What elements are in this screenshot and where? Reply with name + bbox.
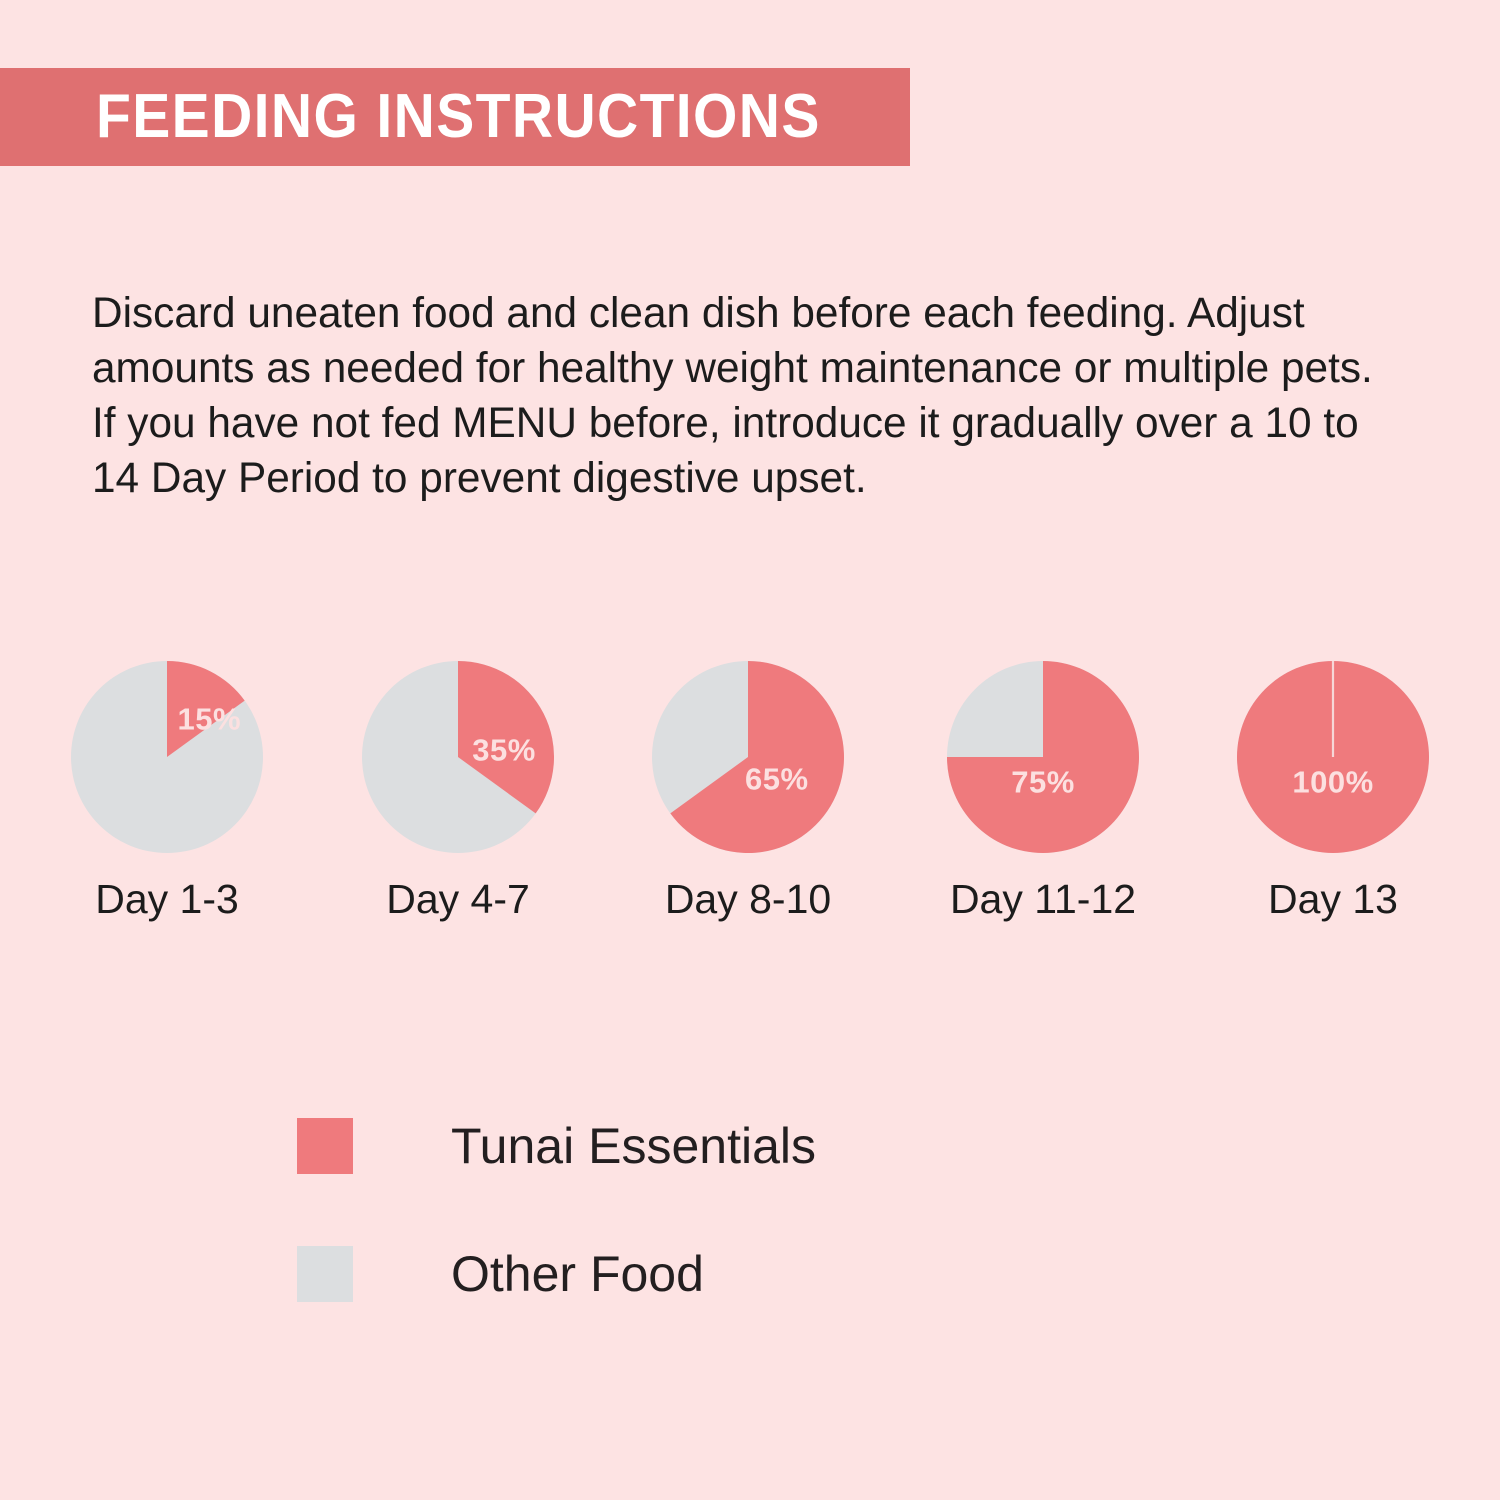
- pie-chart-2: 35%Day 4-7: [362, 661, 554, 920]
- legend-item-tunai-essentials: Tunai Essentials: [297, 1082, 816, 1210]
- pie-graphic-3: 65%: [652, 661, 844, 853]
- legend-label-other-food: Other Food: [451, 1249, 704, 1299]
- pie-day-label-4: Day 11-12: [947, 879, 1139, 920]
- pie-day-label-5: Day 13: [1237, 879, 1429, 920]
- pie-graphic-5: 100%: [1237, 661, 1429, 853]
- legend-item-other-food: Other Food: [297, 1210, 816, 1338]
- pie-chart-5: 100%Day 13: [1237, 661, 1429, 920]
- header-banner: FEEDING INSTRUCTIONS: [0, 68, 910, 166]
- pie-svg-4: [947, 661, 1139, 853]
- pie-value-label-2: 35%: [472, 735, 536, 766]
- pie-chart-3: 65%Day 8-10: [652, 661, 844, 920]
- pie-svg-3: [652, 661, 844, 853]
- legend-swatch-other-food: [297, 1246, 353, 1302]
- pie-value-label-5: 100%: [1292, 766, 1373, 797]
- pie-svg-5: [1237, 661, 1429, 853]
- pie-day-label-3: Day 8-10: [652, 879, 844, 920]
- pie-value-label-4: 75%: [1011, 766, 1075, 797]
- page-title: FEEDING INSTRUCTIONS: [96, 86, 821, 148]
- pie-value-label-1: 15%: [177, 703, 241, 734]
- pie-graphic-4: 75%: [947, 661, 1139, 853]
- pie-chart-4: 75%Day 11-12: [947, 661, 1139, 920]
- chart-legend: Tunai Essentials Other Food: [297, 1082, 816, 1338]
- pie-chart-1: 15%Day 1-3: [71, 661, 263, 920]
- legend-swatch-tunai-essentials: [297, 1118, 353, 1174]
- pie-day-label-1: Day 1-3: [71, 879, 263, 920]
- legend-label-tunai-essentials: Tunai Essentials: [451, 1121, 816, 1171]
- pie-graphic-2: 35%: [362, 661, 554, 853]
- pie-chart-row: 15%Day 1-335%Day 4-765%Day 8-1075%Day 11…: [0, 661, 1500, 921]
- pie-graphic-1: 15%: [71, 661, 263, 853]
- pie-value-label-3: 65%: [745, 764, 809, 795]
- pie-svg-1: [71, 661, 263, 853]
- instructions-paragraph: Discard uneaten food and clean dish befo…: [92, 286, 1402, 506]
- pie-day-label-2: Day 4-7: [362, 879, 554, 920]
